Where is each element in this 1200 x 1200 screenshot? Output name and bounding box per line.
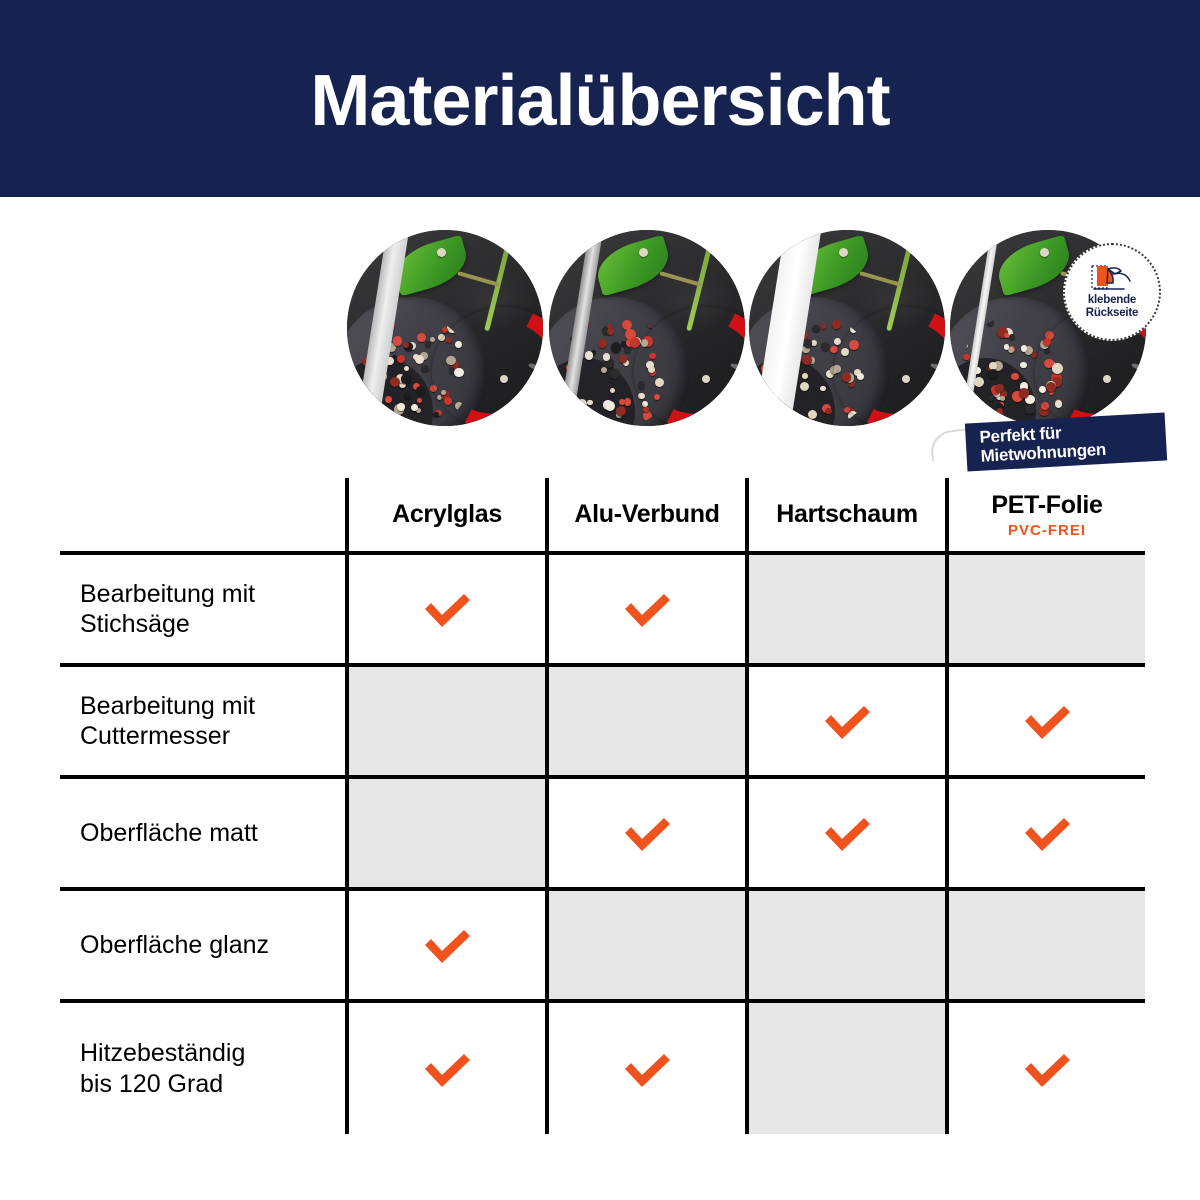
cell-alu-verbund [545, 1003, 745, 1134]
column-header-hartschaum: Hartschaum [745, 478, 945, 551]
check-icon [621, 813, 673, 853]
check-icon [421, 589, 473, 629]
row-label: Hitzebeständigbis 120 Grad [60, 1003, 345, 1134]
material-comparison-table: Acrylglas Alu-Verbund Hartschaum PET-Fol… [60, 478, 1145, 1134]
column-header-pet-folie: PET-Folie PVC-FREI [945, 478, 1145, 551]
cell-hartschaum [745, 667, 945, 775]
cell-alu-verbund [545, 891, 745, 999]
column-title: Alu-Verbund [574, 500, 719, 529]
check-icon [421, 1049, 473, 1089]
cell-acrylglas [345, 1003, 545, 1134]
cell-alu-verbund [545, 779, 745, 887]
cell-acrylglas [345, 555, 545, 663]
cell-pet-folie [945, 555, 1145, 663]
cell-hartschaum [745, 891, 945, 999]
column-title: Acrylglas [392, 500, 502, 529]
row-label-line1: Hitzebeständig [80, 1038, 245, 1069]
table-body: Bearbeitung mitStichsägeBearbeitung mitC… [60, 551, 1145, 1134]
row-label: Bearbeitung mitCuttermesser [60, 667, 345, 775]
check-icon [421, 925, 473, 965]
table-row: Oberfläche matt [60, 775, 1145, 887]
table-row: Bearbeitung mitStichsäge [60, 551, 1145, 663]
check-icon [1021, 813, 1073, 853]
row-label-line2: Stichsäge [80, 609, 255, 640]
cell-pet-folie [945, 1003, 1145, 1134]
badge-label-line1: klebende [1088, 294, 1136, 307]
table-row: Oberfläche glanz [60, 887, 1145, 999]
cell-acrylglas [345, 779, 545, 887]
row-label-line1: Oberfläche glanz [80, 930, 269, 961]
check-icon [621, 589, 673, 629]
cell-acrylglas [345, 891, 545, 999]
table-corner-cell [60, 478, 345, 551]
cell-pet-folie [945, 667, 1145, 775]
cell-alu-verbund [545, 555, 745, 663]
cell-hartschaum [745, 555, 945, 663]
check-icon [821, 813, 873, 853]
cell-acrylglas [345, 667, 545, 775]
cell-pet-folie [945, 779, 1145, 887]
cell-pet-folie [945, 891, 1145, 999]
product-image-row [0, 230, 1200, 430]
row-label-line1: Oberfläche matt [80, 818, 258, 849]
column-header-alu-verbund: Alu-Verbund [545, 478, 745, 551]
product-image-acrylglas [347, 230, 543, 426]
cell-hartschaum [745, 779, 945, 887]
check-icon [1021, 1049, 1073, 1089]
column-title: PET-Folie [991, 491, 1102, 520]
table-row: Hitzebeständigbis 120 Grad [60, 999, 1145, 1134]
row-label: Oberfläche glanz [60, 891, 345, 999]
adhesive-peel-icon [1091, 264, 1133, 292]
badge-label-line2: Rückseite [1086, 307, 1139, 320]
row-label-line2: Cuttermesser [80, 721, 255, 752]
column-subtitle-pvc-frei: PVC-FREI [1008, 522, 1086, 539]
column-title: Hartschaum [776, 500, 918, 529]
column-header-acrylglas: Acrylglas [345, 478, 545, 551]
ribbon-banner: Perfekt für Mietwohnungen [965, 412, 1167, 471]
row-label-line1: Bearbeitung mit [80, 691, 255, 722]
check-icon [1021, 701, 1073, 741]
cell-hartschaum [745, 1003, 945, 1134]
page-header: Materialübersicht [0, 0, 1200, 197]
page-title: Materialübersicht [310, 65, 889, 137]
row-label-line1: Bearbeitung mit [80, 579, 255, 610]
check-icon [821, 701, 873, 741]
check-icon [621, 1049, 673, 1089]
table-row: Bearbeitung mitCuttermesser [60, 663, 1145, 775]
row-label-line2: bis 120 Grad [80, 1069, 245, 1100]
row-label: Bearbeitung mitStichsäge [60, 555, 345, 663]
table-header-row: Acrylglas Alu-Verbund Hartschaum PET-Fol… [60, 478, 1145, 551]
cell-alu-verbund [545, 667, 745, 775]
product-image-alu-verbund [549, 230, 745, 426]
adhesive-back-badge: klebende Rückseite [1063, 243, 1161, 341]
product-image-hartschaum [749, 230, 945, 426]
row-label: Oberfläche matt [60, 779, 345, 887]
